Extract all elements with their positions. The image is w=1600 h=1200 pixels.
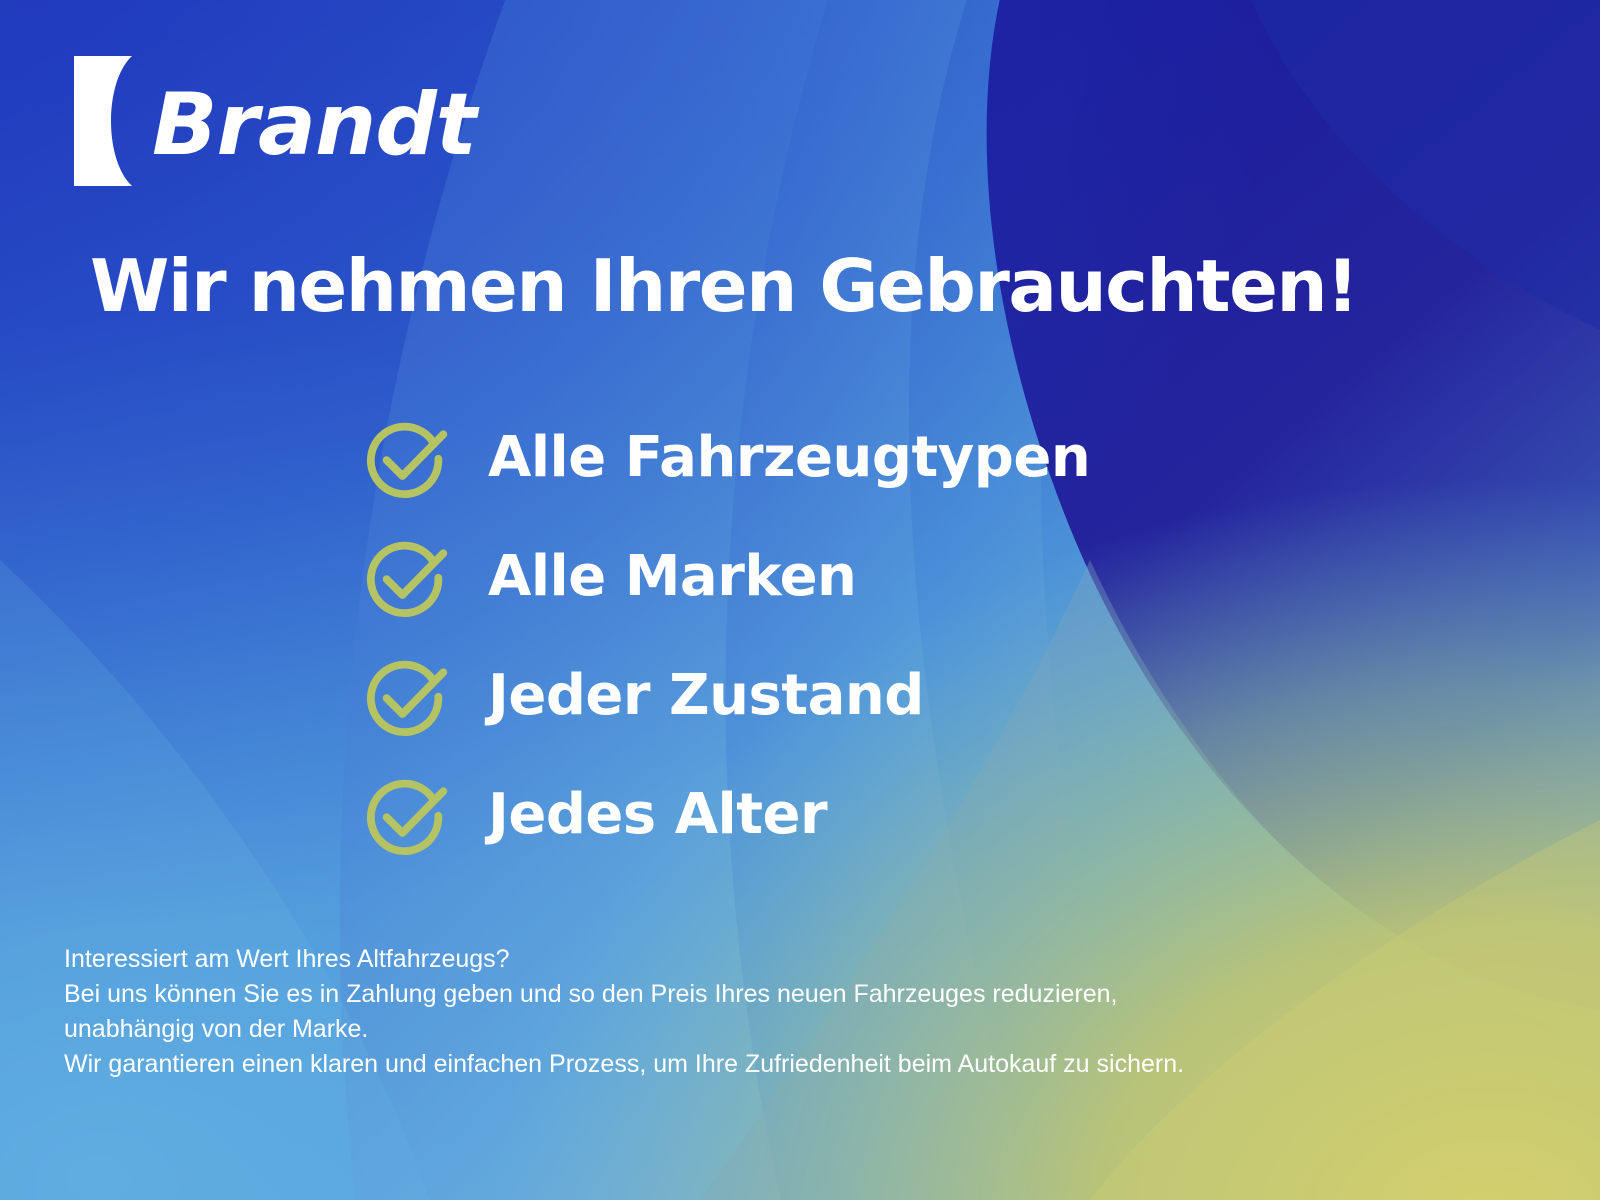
- check-circle-icon: [360, 650, 452, 742]
- feature-label: Alle Fahrzeugtypen: [488, 430, 1090, 486]
- feature-item: Alle Fahrzeugtypen: [358, 398, 1090, 517]
- feature-label: Alle Marken: [488, 549, 856, 605]
- promo-banner: Brandt Wir nehmen Ihren Gebrauchten! All…: [0, 0, 1600, 1200]
- feature-item: Jedes Alter: [358, 755, 1090, 874]
- footer-note: Interessiert am Wert Ihres Altfahrzeugs?…: [64, 942, 1544, 1082]
- footer-line: Bei uns können Sie es in Zahlung geben u…: [64, 977, 1544, 1012]
- feature-label: Jeder Zustand: [488, 668, 924, 724]
- check-circle-icon: [360, 769, 452, 861]
- brand-logo[interactable]: Brandt: [74, 56, 476, 186]
- feature-item: Jeder Zustand: [358, 636, 1090, 755]
- footer-line: Wir garantieren einen klaren und einfach…: [64, 1047, 1544, 1082]
- footer-line: Interessiert am Wert Ihres Altfahrzeugs?: [64, 942, 1544, 977]
- brandt-bracket-icon: [74, 56, 146, 186]
- feature-item: Alle Marken: [358, 517, 1090, 636]
- check-circle-icon: [360, 412, 452, 504]
- headline: Wir nehmen Ihren Gebrauchten!: [90, 249, 1510, 325]
- feature-list: Alle Fahrzeugtypen Alle Marken Jeder Zus…: [358, 398, 1090, 874]
- feature-label: Jedes Alter: [488, 787, 827, 843]
- footer-line: unabhängig von der Marke.: [64, 1012, 1544, 1047]
- brand-name: Brandt: [152, 82, 476, 168]
- check-circle-icon: [360, 531, 452, 623]
